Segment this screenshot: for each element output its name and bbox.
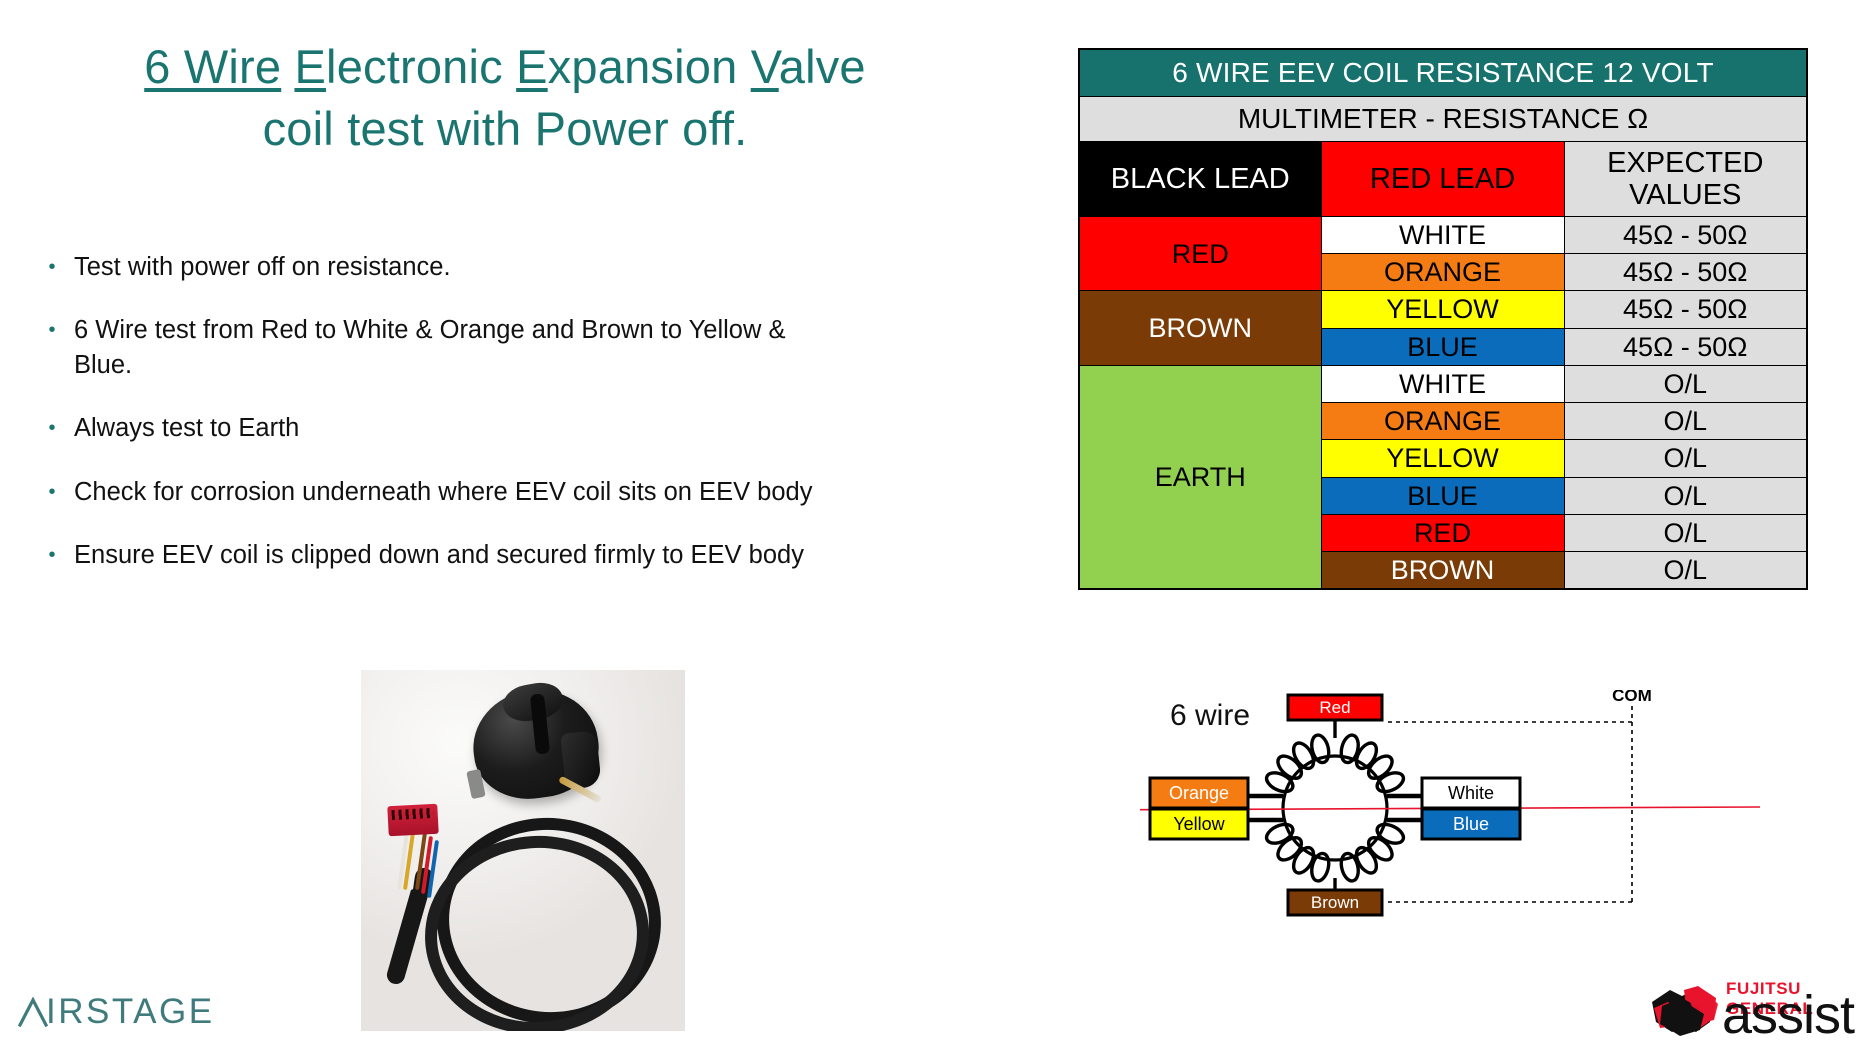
- airstage-a-icon: [18, 996, 48, 1028]
- red-lead-blue: BLUE: [1321, 328, 1564, 365]
- bullet-list: • Test with power off on resistance. • 6…: [30, 250, 990, 602]
- title-alve: alve: [779, 40, 866, 93]
- eev-coil-photo: [361, 670, 685, 1031]
- title-subline: coil test with Power off.: [40, 98, 970, 160]
- red-connector: [387, 804, 439, 837]
- group-label-brown: BROWN: [1079, 291, 1321, 365]
- com-label: COM: [1612, 690, 1652, 705]
- red-lead-red: RED: [1321, 514, 1564, 551]
- expected-value: O/L: [1564, 514, 1807, 551]
- list-item: • Test with power off on resistance.: [30, 250, 990, 284]
- expected-line2: VALUES: [1629, 179, 1741, 211]
- expected-value: O/L: [1564, 477, 1807, 514]
- title-underlined-v: V: [751, 40, 779, 93]
- title-underlined-e2: E: [516, 40, 548, 93]
- bullet-text: Test with power off on resistance.: [74, 250, 990, 284]
- expected-value: 45Ω - 50Ω: [1564, 254, 1807, 291]
- title-xpansion: xpansion: [548, 40, 751, 93]
- airstage-wordmark: IRSTAGE: [46, 992, 215, 1032]
- assist-wordmark: assist: [1722, 988, 1854, 1042]
- list-item: • Ensure EEV coil is clipped down and se…: [30, 538, 990, 572]
- expected-value: 45Ω - 50Ω: [1564, 217, 1807, 254]
- terminal-label-yellow: Yellow: [1173, 814, 1225, 834]
- red-lead-brown: BROWN: [1321, 552, 1564, 590]
- expected-value: O/L: [1564, 365, 1807, 402]
- terminal-label-white: White: [1448, 783, 1494, 803]
- expected-value: 45Ω - 50Ω: [1564, 291, 1807, 328]
- column-header-black-lead: BLACK LEAD: [1079, 142, 1321, 217]
- terminal-label-brown: Brown: [1311, 893, 1359, 912]
- terminal-label-blue: Blue: [1453, 814, 1489, 834]
- bullet-dot-icon: •: [30, 313, 74, 344]
- table-row: RED WHITE 45Ω - 50Ω: [1079, 217, 1807, 254]
- expected-value: O/L: [1564, 440, 1807, 477]
- table-row: EARTH WHITE O/L: [1079, 365, 1807, 402]
- table-row: BROWN YELLOW 45Ω - 50Ω: [1079, 291, 1807, 328]
- list-item: • Check for corrosion underneath where E…: [30, 475, 990, 509]
- resistance-table: 6 WIRE EEV COIL RESISTANCE 12 VOLT MULTI…: [1078, 48, 1808, 590]
- table-subtitle: MULTIMETER - RESISTANCE Ω: [1079, 97, 1807, 142]
- table-row-title: 6 WIRE EEV COIL RESISTANCE 12 VOLT: [1079, 49, 1807, 97]
- red-lead-blue: BLUE: [1321, 477, 1564, 514]
- red-lead-orange: ORANGE: [1321, 403, 1564, 440]
- table-header-row: BLACK LEAD RED LEAD EXPECTED VALUES: [1079, 142, 1807, 217]
- red-lead-white: WHITE: [1321, 217, 1564, 254]
- expected-line1: EXPECTED: [1607, 147, 1763, 179]
- fujitsu-general-assist-logo: FUJITSU GENERAL assist: [1648, 978, 1864, 1044]
- bullet-dot-icon: •: [30, 250, 74, 281]
- bullet-dot-icon: •: [30, 475, 74, 506]
- page-title: 6 Wire Electronic Expansion Valve coil t…: [40, 36, 970, 160]
- coil-wiring-diagram: Red Brown Orange Yellow White Blue 6 wir…: [1140, 690, 1760, 950]
- list-item: • 6 Wire test from Red to White & Orange…: [30, 313, 990, 382]
- table-row-subtitle: MULTIMETER - RESISTANCE Ω: [1079, 97, 1807, 142]
- bullet-dot-icon: •: [30, 538, 74, 569]
- title-underlined-6wire: 6 Wire: [144, 40, 281, 93]
- bullet-text: Check for corrosion underneath where EEV…: [74, 475, 990, 509]
- bullet-text: Ensure EEV coil is clipped down and secu…: [74, 538, 990, 572]
- column-header-red-lead: RED LEAD: [1321, 142, 1564, 217]
- expected-value: 45Ω - 50Ω: [1564, 328, 1807, 365]
- red-lead-orange: ORANGE: [1321, 254, 1564, 291]
- bullet-text: Always test to Earth: [74, 411, 990, 445]
- expected-value: O/L: [1564, 552, 1807, 590]
- airstage-logo: IRSTAGE: [18, 992, 215, 1032]
- diagram-caption: 6 wire: [1170, 699, 1250, 732]
- bullet-text: 6 Wire test from Red to White & Orange a…: [74, 313, 990, 382]
- terminal-label-orange: Orange: [1169, 783, 1229, 803]
- title-lectronic: lectronic: [326, 40, 516, 93]
- terminal-label-red: Red: [1319, 698, 1350, 717]
- red-lead-white: WHITE: [1321, 365, 1564, 402]
- list-item: • Always test to Earth: [30, 411, 990, 445]
- red-lead-yellow: YELLOW: [1321, 440, 1564, 477]
- bullet-dot-icon: •: [30, 411, 74, 442]
- title-underlined-e1: E: [294, 40, 326, 93]
- table-title: 6 WIRE EEV COIL RESISTANCE 12 VOLT: [1079, 49, 1807, 97]
- column-header-expected-values: EXPECTED VALUES: [1564, 142, 1807, 217]
- expected-value: O/L: [1564, 403, 1807, 440]
- red-lead-yellow: YELLOW: [1321, 291, 1564, 328]
- group-label-earth: EARTH: [1079, 365, 1321, 589]
- handshake-icon: [1648, 982, 1722, 1042]
- group-label-red: RED: [1079, 217, 1321, 291]
